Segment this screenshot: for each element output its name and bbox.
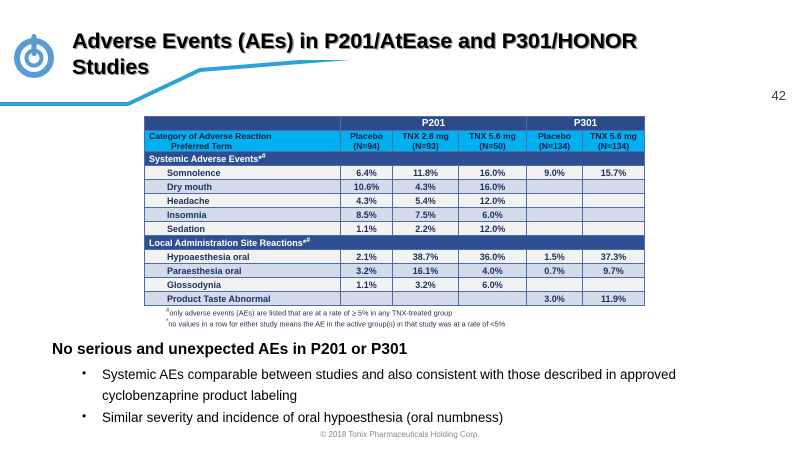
- study-band-row: P201 P301: [145, 117, 645, 131]
- col-n: (N=93): [393, 141, 458, 151]
- slide-header: Adverse Events (AEs) in P201/AtEase and …: [0, 0, 800, 110]
- list-item: Similar severity and incidence of oral h…: [78, 407, 738, 428]
- col-name: Placebo: [350, 131, 383, 141]
- col-name: TNX 5.6 mg: [590, 131, 637, 141]
- preferred-term-cell: Headache: [145, 194, 341, 208]
- column-header-p201-tnx56: TNX 5.6 mg (N=50): [459, 131, 527, 152]
- study-band-p301: P301: [527, 117, 645, 131]
- col-n: (N=134): [583, 141, 644, 151]
- footnote-text: only adverse events (AEs) are listed tha…: [169, 308, 452, 317]
- table-body: Systemic Adverse Events*#Somnolence6.4%1…: [145, 152, 645, 306]
- value-cell: 10.6%: [341, 180, 393, 194]
- footnote-hash: #only adverse events (AEs) are listed th…: [166, 307, 666, 318]
- value-cell: 4.0%: [459, 264, 527, 278]
- copyright-notice: © 2018 Tonix Pharmaceuticals Holding Cor…: [0, 430, 800, 439]
- table-row: Paraesthesia oral3.2%16.1%4.0%0.7%9.7%: [145, 264, 645, 278]
- value-cell: [583, 180, 645, 194]
- list-item: Systemic AEs comparable between studies …: [78, 364, 738, 406]
- table-row: Insomnia8.5%7.5%6.0%: [145, 208, 645, 222]
- value-cell: 2.2%: [393, 222, 459, 236]
- value-cell: 6.0%: [459, 278, 527, 292]
- table-row: Product Taste Abnormal3.0%11.9%: [145, 292, 645, 306]
- company-logo-icon: [10, 31, 58, 79]
- table-head: P201 P301 Category of Adverse Reaction P…: [145, 117, 645, 152]
- section-footnote-marker: #: [262, 153, 266, 160]
- value-cell: 16.0%: [459, 180, 527, 194]
- preferred-term-cell: Paraesthesia oral: [145, 264, 341, 278]
- value-cell: [527, 222, 583, 236]
- takeaway-heading: No serious and unexpected AEs in P201 or…: [52, 341, 407, 359]
- study-band-p201: P201: [341, 117, 527, 131]
- value-cell: 16.1%: [393, 264, 459, 278]
- takeaway-bullet-list: Systemic AEs comparable between studies …: [78, 364, 738, 429]
- value-cell: [393, 292, 459, 306]
- value-cell: 12.0%: [459, 194, 527, 208]
- preferred-term-cell: Somnolence: [145, 166, 341, 180]
- value-cell: [583, 194, 645, 208]
- value-cell: 38.7%: [393, 250, 459, 264]
- value-cell: 6.0%: [459, 208, 527, 222]
- value-cell: 11.9%: [583, 292, 645, 306]
- preferred-term-cell: Product Taste Abnormal: [145, 292, 341, 306]
- value-cell: 3.0%: [527, 292, 583, 306]
- value-cell: 4.3%: [341, 194, 393, 208]
- section-header-label: Local Administration Site Reactions*#: [145, 236, 645, 250]
- preferred-term-cell: Glossodynia: [145, 278, 341, 292]
- value-cell: 8.5%: [341, 208, 393, 222]
- category-header-line1: Category of Adverse Reaction: [149, 131, 271, 141]
- table-footnotes: #only adverse events (AEs) are listed th…: [166, 307, 666, 329]
- preferred-term-cell: Dry mouth: [145, 180, 341, 194]
- preferred-term-cell: Sedation: [145, 222, 341, 236]
- value-cell: 3.2%: [393, 278, 459, 292]
- value-cell: [459, 292, 527, 306]
- value-cell: 37.3%: [583, 250, 645, 264]
- adverse-events-table: P201 P301 Category of Adverse Reaction P…: [144, 116, 645, 306]
- category-header: Category of Adverse Reaction Preferred T…: [145, 131, 341, 152]
- section-footnote-marker: #: [306, 237, 310, 244]
- value-cell: 9.0%: [527, 166, 583, 180]
- table-row: Dry mouth10.6%4.3%16.0%: [145, 180, 645, 194]
- value-cell: 1.1%: [341, 278, 393, 292]
- value-cell: [583, 278, 645, 292]
- col-name: Placebo: [538, 131, 571, 141]
- value-cell: 9.7%: [583, 264, 645, 278]
- value-cell: [341, 292, 393, 306]
- value-cell: 16.0%: [459, 166, 527, 180]
- col-name: TNX 2.8 mg: [402, 131, 449, 141]
- col-n: (N=50): [459, 141, 526, 151]
- value-cell: 1.5%: [527, 250, 583, 264]
- preferred-term-cell: Hypoaesthesia oral: [145, 250, 341, 264]
- value-cell: [583, 208, 645, 222]
- col-n: (N=94): [341, 141, 392, 151]
- value-cell: 2.1%: [341, 250, 393, 264]
- section-header-label: Systemic Adverse Events*#: [145, 152, 645, 166]
- value-cell: [527, 208, 583, 222]
- column-header-p301-placebo: Placebo (N=134): [527, 131, 583, 152]
- table-row: Headache4.3%5.4%12.0%: [145, 194, 645, 208]
- column-header-p201-tnx28: TNX 2.8 mg (N=93): [393, 131, 459, 152]
- value-cell: [527, 180, 583, 194]
- column-header-row: Category of Adverse Reaction Preferred T…: [145, 131, 645, 152]
- category-header-line2: Preferred Term: [149, 141, 340, 151]
- footnote-text: no values in a row for either study mean…: [168, 319, 505, 328]
- value-cell: 12.0%: [459, 222, 527, 236]
- page-number: 42: [772, 88, 786, 103]
- table-row: Somnolence6.4%11.8%16.0%9.0%15.7%: [145, 166, 645, 180]
- value-cell: 1.1%: [341, 222, 393, 236]
- section-header-row: Systemic Adverse Events*#: [145, 152, 645, 166]
- section-header-row: Local Administration Site Reactions*#: [145, 236, 645, 250]
- table-row: Sedation1.1%2.2%12.0%: [145, 222, 645, 236]
- value-cell: [583, 222, 645, 236]
- column-header-p201-placebo: Placebo (N=94): [341, 131, 393, 152]
- footnote-star: *no values in a row for either study mea…: [166, 318, 666, 329]
- value-cell: 3.2%: [341, 264, 393, 278]
- value-cell: 5.4%: [393, 194, 459, 208]
- value-cell: [527, 278, 583, 292]
- col-n: (N=134): [527, 141, 582, 151]
- value-cell: 15.7%: [583, 166, 645, 180]
- study-band-blank: [145, 117, 341, 131]
- value-cell: 0.7%: [527, 264, 583, 278]
- preferred-term-cell: Insomnia: [145, 208, 341, 222]
- value-cell: 7.5%: [393, 208, 459, 222]
- column-header-p301-tnx56: TNX 5.6 mg (N=134): [583, 131, 645, 152]
- table-row: Glossodynia1.1%3.2%6.0%: [145, 278, 645, 292]
- value-cell: 4.3%: [393, 180, 459, 194]
- value-cell: [527, 194, 583, 208]
- table-row: Hypoaesthesia oral2.1%38.7%36.0%1.5%37.3…: [145, 250, 645, 264]
- adverse-events-table-container: P201 P301 Category of Adverse Reaction P…: [144, 116, 644, 306]
- page-title: Adverse Events (AEs) in P201/AtEase and …: [72, 28, 642, 80]
- value-cell: 11.8%: [393, 166, 459, 180]
- col-name: TNX 5.6 mg: [469, 131, 516, 141]
- value-cell: 36.0%: [459, 250, 527, 264]
- value-cell: 6.4%: [341, 166, 393, 180]
